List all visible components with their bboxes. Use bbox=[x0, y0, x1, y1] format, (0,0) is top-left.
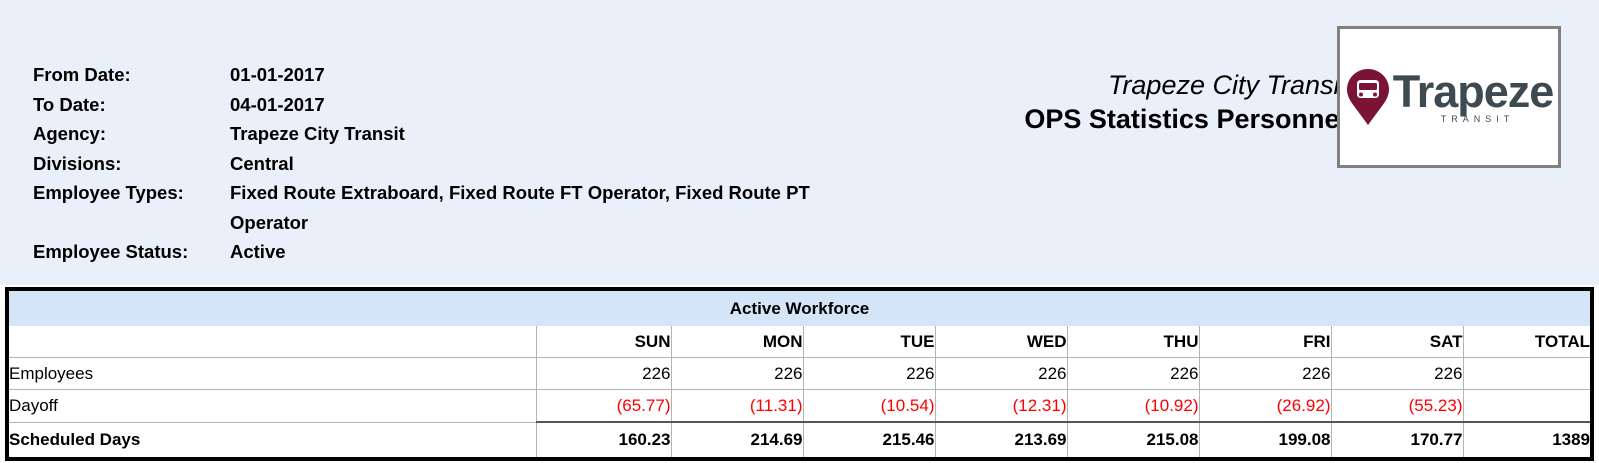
cell-scheduled-wed: 213.69 bbox=[935, 422, 1067, 457]
agency-title: Trapeze City Transit bbox=[647, 68, 1347, 102]
parameter-label: To Date: bbox=[33, 90, 230, 120]
logo-wordmark: Trapeze bbox=[1393, 71, 1554, 113]
parameter-label: Employee Types: bbox=[33, 178, 230, 208]
cell-employees-tue: 226 bbox=[803, 358, 935, 390]
cell-scheduled-total: 1389 bbox=[1463, 422, 1590, 457]
cell-employees-thu: 226 bbox=[1067, 358, 1199, 390]
table-band-row: Active Workforce bbox=[9, 291, 1590, 326]
parameter-label: Divisions: bbox=[33, 149, 230, 179]
column-header-wed: WED bbox=[935, 326, 1067, 358]
cell-scheduled-sat: 170.77 bbox=[1331, 422, 1463, 457]
cell-scheduled-thu: 215.08 bbox=[1067, 422, 1199, 457]
company-logo: Trapeze TRANSIT bbox=[1337, 26, 1561, 168]
column-header-mon: MON bbox=[671, 326, 803, 358]
row-label-scheduled-days: Scheduled Days bbox=[9, 422, 536, 457]
parameter-row-divisions: Divisions: Central bbox=[33, 149, 913, 179]
row-label-dayoff: Dayoff bbox=[9, 390, 536, 423]
column-header-fri: FRI bbox=[1199, 326, 1331, 358]
parameter-value: Central bbox=[230, 149, 294, 179]
table-header-row: SUN MON TUE WED THU FRI SAT TOTAL bbox=[9, 326, 1590, 358]
cell-dayoff-fri: (26.92) bbox=[1199, 390, 1331, 423]
cell-scheduled-mon: 214.69 bbox=[671, 422, 803, 457]
column-header-sun: SUN bbox=[536, 326, 671, 358]
parameter-value: 04-01-2017 bbox=[230, 90, 325, 120]
cell-dayoff-wed: (12.31) bbox=[935, 390, 1067, 423]
table-row: Scheduled Days 160.23 214.69 215.46 213.… bbox=[9, 422, 1590, 457]
cell-dayoff-sun: (65.77) bbox=[536, 390, 671, 423]
parameter-label: Employee Status: bbox=[33, 237, 230, 267]
column-header-blank bbox=[9, 326, 536, 358]
cell-scheduled-tue: 215.46 bbox=[803, 422, 935, 457]
column-header-sat: SAT bbox=[1331, 326, 1463, 358]
bus-map-pin-icon bbox=[1345, 69, 1391, 125]
cell-dayoff-total bbox=[1463, 390, 1590, 423]
cell-dayoff-sat: (55.23) bbox=[1331, 390, 1463, 423]
cell-employees-sun: 226 bbox=[536, 358, 671, 390]
report-table: Active Workforce SUN MON TUE WED THU FRI… bbox=[9, 291, 1590, 457]
cell-employees-total bbox=[1463, 358, 1590, 390]
table-row: Dayoff (65.77) (11.31) (10.54) (12.31) (… bbox=[9, 390, 1590, 423]
cell-scheduled-sun: 160.23 bbox=[536, 422, 671, 457]
cell-dayoff-mon: (11.31) bbox=[671, 390, 803, 423]
parameter-row-employee-types: Employee Types: Fixed Route Extraboard, … bbox=[33, 178, 913, 237]
cell-dayoff-thu: (10.92) bbox=[1067, 390, 1199, 423]
active-workforce-table: Active Workforce SUN MON TUE WED THU FRI… bbox=[5, 287, 1594, 461]
cell-employees-wed: 226 bbox=[935, 358, 1067, 390]
cell-employees-sat: 226 bbox=[1331, 358, 1463, 390]
row-label-employees: Employees bbox=[9, 358, 536, 390]
parameter-row-employee-status: Employee Status: Active bbox=[33, 237, 913, 267]
report-header: From Date: 01-01-2017 To Date: 04-01-201… bbox=[0, 0, 1599, 285]
logo-inner: Trapeze TRANSIT bbox=[1345, 69, 1554, 125]
report-title-block: Trapeze City Transit OPS Statistics Pers… bbox=[647, 68, 1347, 136]
parameter-label: Agency: bbox=[33, 119, 230, 149]
parameter-label: From Date: bbox=[33, 60, 230, 90]
parameter-value: Fixed Route Extraboard, Fixed Route FT O… bbox=[230, 178, 890, 237]
page-title: OPS Statistics Personnel bbox=[647, 102, 1347, 136]
column-header-thu: THU bbox=[1067, 326, 1199, 358]
cell-employees-mon: 226 bbox=[671, 358, 803, 390]
parameter-value: Trapeze City Transit bbox=[230, 119, 405, 149]
logo-wordmark-group: Trapeze TRANSIT bbox=[1393, 71, 1554, 124]
parameter-value: 01-01-2017 bbox=[230, 60, 325, 90]
cell-dayoff-tue: (10.54) bbox=[803, 390, 935, 423]
table-row: Employees 226 226 226 226 226 226 226 bbox=[9, 358, 1590, 390]
column-header-tue: TUE bbox=[803, 326, 935, 358]
table-band-title: Active Workforce bbox=[9, 291, 1590, 326]
column-header-total: TOTAL bbox=[1463, 326, 1590, 358]
cell-scheduled-fri: 199.08 bbox=[1199, 422, 1331, 457]
logo-tagline: TRANSIT bbox=[1441, 114, 1515, 124]
parameter-value: Active bbox=[230, 237, 286, 267]
cell-employees-fri: 226 bbox=[1199, 358, 1331, 390]
